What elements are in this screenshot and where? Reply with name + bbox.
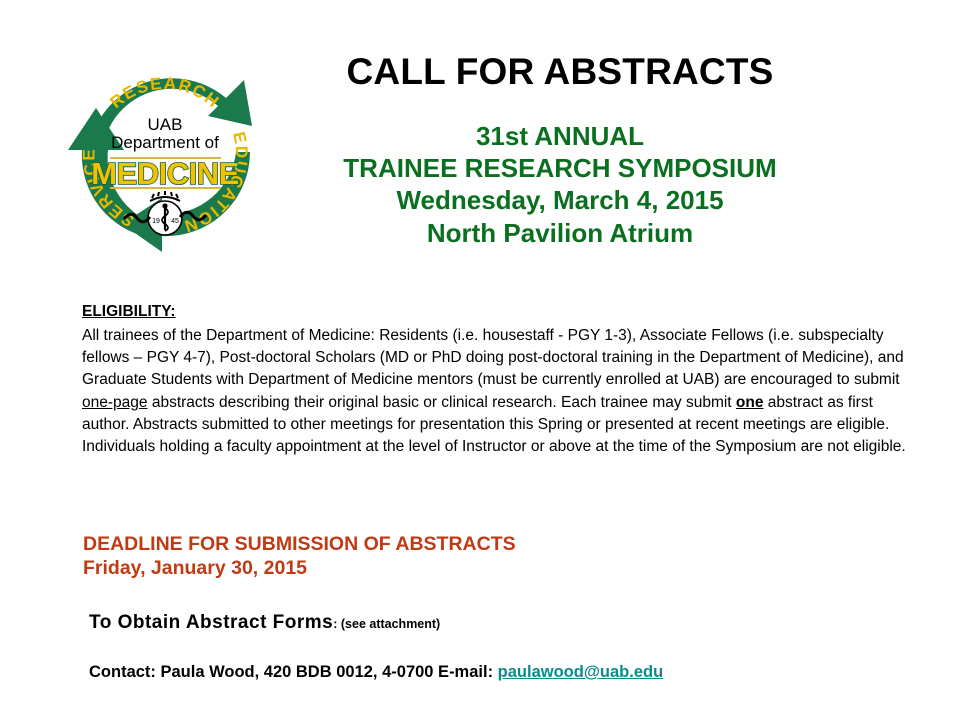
contact-email-link[interactable]: paulawood@uab.edu — [498, 663, 664, 681]
logo-center-medicine: MEDICINE — [91, 156, 239, 191]
deadline-heading: DEADLINE FOR SUBMISSION OF ABSTRACTS — [83, 532, 516, 556]
obtain-forms-block: To Obtain Abstract Forms: (see attachmen… — [89, 612, 440, 634]
seal-year-right: 45 — [171, 218, 179, 225]
logo-center-uab: UAB — [148, 115, 183, 134]
eligibility-paragraph: All trainees of the Department of Medici… — [82, 325, 912, 458]
uab-department-of-medicine-logo: RESEARCH EDUCATION SERVICE UAB Departmen… — [66, 46, 264, 258]
subtitle-line-symposium: TRAINEE RESEARCH SYMPOSIUM — [250, 152, 870, 184]
seal-year-left: 19 — [152, 218, 160, 225]
eligibility-text-1: All trainees of the Department of Medici… — [82, 327, 904, 388]
flyer-page: RESEARCH EDUCATION SERVICE UAB Departmen… — [0, 0, 960, 720]
subtitle-line-venue: North Pavilion Atrium — [250, 217, 870, 249]
subtitle-line-date: Wednesday, March 4, 2015 — [250, 184, 870, 216]
eligibility-emphasis-one-page: one-page — [82, 394, 148, 411]
deadline-block: DEADLINE FOR SUBMISSION OF ABSTRACTS Fri… — [83, 532, 516, 580]
obtain-forms-label: To Obtain Abstract Forms — [89, 612, 333, 633]
page-title: CALL FOR ABSTRACTS — [270, 52, 850, 91]
eligibility-emphasis-one: one — [736, 394, 764, 411]
contact-block: Contact: Paula Wood, 420 BDB 0012, 4-070… — [89, 663, 663, 682]
event-subtitle-block: 31st ANNUAL TRAINEE RESEARCH SYMPOSIUM W… — [250, 120, 870, 249]
eligibility-heading: ELIGIBILITY: — [82, 303, 176, 321]
contact-details: Contact: Paula Wood, 420 BDB 0012, 4-070… — [89, 663, 498, 681]
deadline-date: Friday, January 30, 2015 — [83, 556, 516, 580]
ring-word-research: RESEARCH — [106, 74, 223, 112]
eligibility-text-2: abstracts describing their original basi… — [148, 394, 736, 411]
logo-center-department-of: Department of — [111, 133, 219, 152]
obtain-forms-note: : (see attachment) — [333, 617, 440, 631]
subtitle-line-annual: 31st ANNUAL — [250, 120, 870, 152]
